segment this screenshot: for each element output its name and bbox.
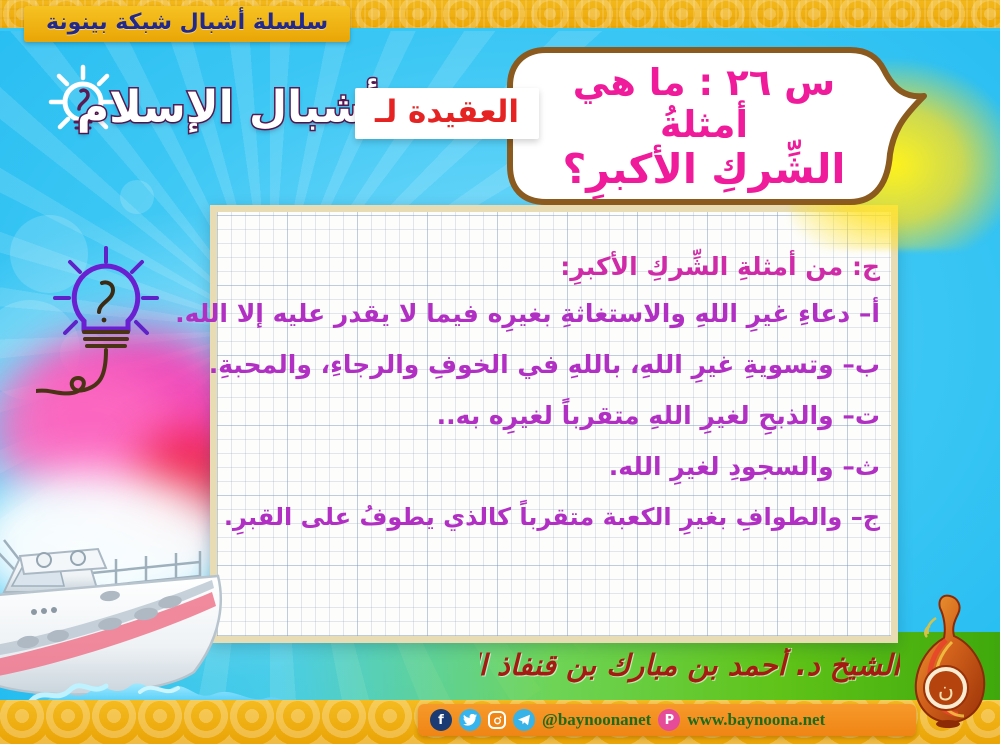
question-line-2: الشِّركِ الأكبرِ؟ [528, 146, 880, 193]
instagram-icon[interactable] [488, 711, 506, 729]
telegram-icon[interactable] [513, 709, 535, 731]
pinterest-icon[interactable]: P [658, 709, 680, 731]
answer-item: ب– وتسويةِ غيرِ اللهِ، باللهِ في الخوفِ … [228, 350, 880, 379]
poster-canvas: سلسلة أشبال شبكة بينونة [0, 0, 1000, 744]
svg-text:ن: ن [938, 678, 954, 703]
answer-item: أ– دعاءِ غيرِ اللهِ والاستغاثةِ بغيرِه ف… [228, 299, 880, 328]
answer-item: ج– والطوافِ بغيرِ الكعبة متقرباً كالذي ي… [228, 503, 880, 531]
footer-social-bar: f @baynoonanet P www.baynoona.net [418, 704, 916, 736]
social-handle[interactable]: @baynoonanet [542, 710, 651, 730]
lightbulb-icon-large [36, 240, 176, 430]
arabic-lamp-logo: ن [906, 590, 992, 730]
category-label: العقيدة لـ [355, 88, 539, 139]
bokeh-circle [120, 180, 154, 214]
question-text: س ٢٦ : ما هي أمثلةُ الشِّركِ الأكبرِ؟ [528, 62, 880, 193]
website-url[interactable]: www.baynoona.net [687, 710, 825, 730]
answer-body: ج: من أمثلةِ الشِّركِ الأكبرِ: أ– دعاءِ … [228, 252, 880, 553]
author-signature: الشيخ د. أحمد بن مبارك بن قنفاذ المزروعي [480, 648, 900, 694]
question-line-1: س ٢٦ : ما هي أمثلةُ [528, 62, 880, 146]
answer-item: ث– والسجودِ لغيرِ الله. [228, 452, 880, 481]
twitter-icon[interactable] [459, 709, 481, 731]
page-title: أشبال الإسلام [80, 82, 380, 133]
facebook-icon[interactable]: f [430, 709, 452, 731]
series-ribbon: سلسلة أشبال شبكة بينونة [24, 6, 350, 42]
question-speech-bubble: س ٢٦ : ما هي أمثلةُ الشِّركِ الأكبرِ؟ [502, 42, 932, 222]
answer-item: ت– والذبحِ لغيرِ اللهِ متقرباً لغيرِه به… [228, 401, 880, 430]
answer-lead: ج: من أمثلةِ الشِّركِ الأكبرِ: [228, 252, 880, 281]
